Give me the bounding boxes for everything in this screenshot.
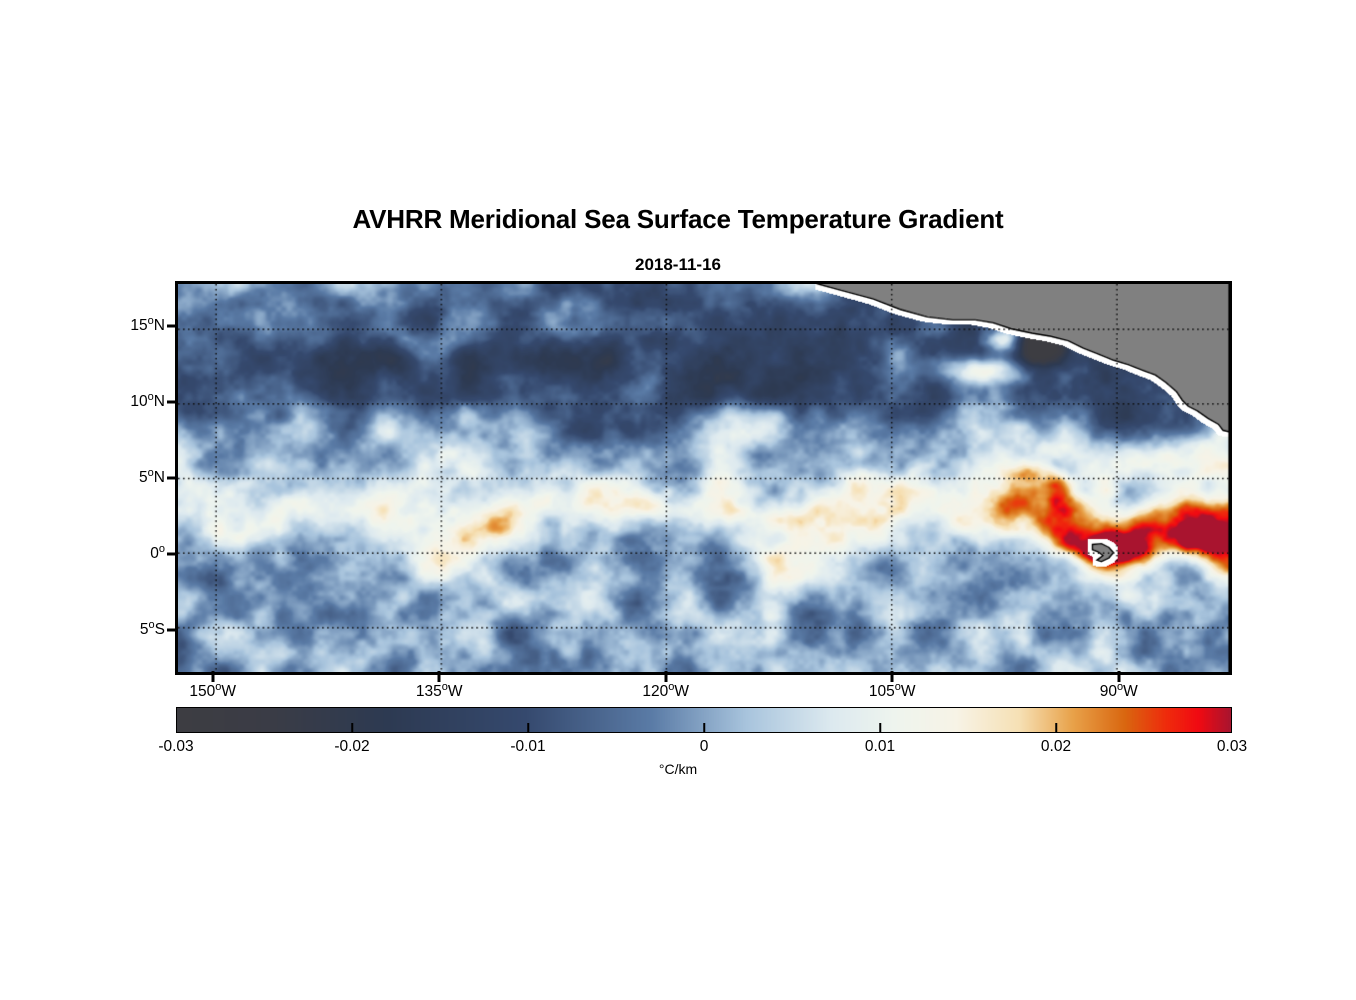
colorbar-tick-label: 0 <box>639 738 769 756</box>
y-tick-label: 10oN <box>45 393 165 411</box>
map-axes <box>175 281 1232 675</box>
page-title: AVHRR Meridional Sea Surface Temperature… <box>0 204 1356 235</box>
colorbar-tick-mark <box>1055 723 1057 732</box>
x-tick-mark <box>891 671 894 682</box>
y-tick-mark <box>167 325 178 328</box>
colorbar-tick-label: 0.03 <box>1167 738 1297 756</box>
y-tick-label: 0o <box>45 545 165 563</box>
y-tick-label: 5oN <box>45 469 165 487</box>
colorbar-tick-label: -0.01 <box>463 738 593 756</box>
x-tick-label: 120oW <box>596 683 736 701</box>
y-tick-label: 15oN <box>45 317 165 335</box>
x-tick-mark <box>438 671 441 682</box>
figure-canvas: AVHRR Meridional Sea Surface Temperature… <box>0 0 1356 1000</box>
x-tick-mark <box>664 671 667 682</box>
colorbar-tick-mark <box>351 723 353 732</box>
colorbar-tick-mark <box>703 723 705 732</box>
x-tick-label: 105oW <box>822 683 962 701</box>
colorbar-tick-label: 0.01 <box>815 738 945 756</box>
colorbar-tick-label: -0.02 <box>287 738 417 756</box>
colorbar-tick-mark <box>527 723 529 732</box>
x-tick-label: 135oW <box>369 683 509 701</box>
y-tick-label: 5oS <box>45 621 165 639</box>
y-tick-mark <box>167 552 178 555</box>
x-tick-label: 90oW <box>1049 683 1189 701</box>
chart-subtitle: 2018-11-16 <box>0 255 1356 275</box>
y-tick-mark <box>167 477 178 480</box>
x-tick-mark <box>211 671 214 682</box>
x-tick-label: 150oW <box>143 683 283 701</box>
colorbar-tick-mark <box>879 723 881 732</box>
sst-gradient-heatmap <box>178 284 1229 672</box>
colorbar-unit-label: °C/km <box>0 761 1356 777</box>
x-tick-mark <box>1117 671 1120 682</box>
y-tick-mark <box>167 628 178 631</box>
colorbar-tick-label: 0.02 <box>991 738 1121 756</box>
y-tick-mark <box>167 401 178 404</box>
colorbar-tick-label: -0.03 <box>111 738 241 756</box>
